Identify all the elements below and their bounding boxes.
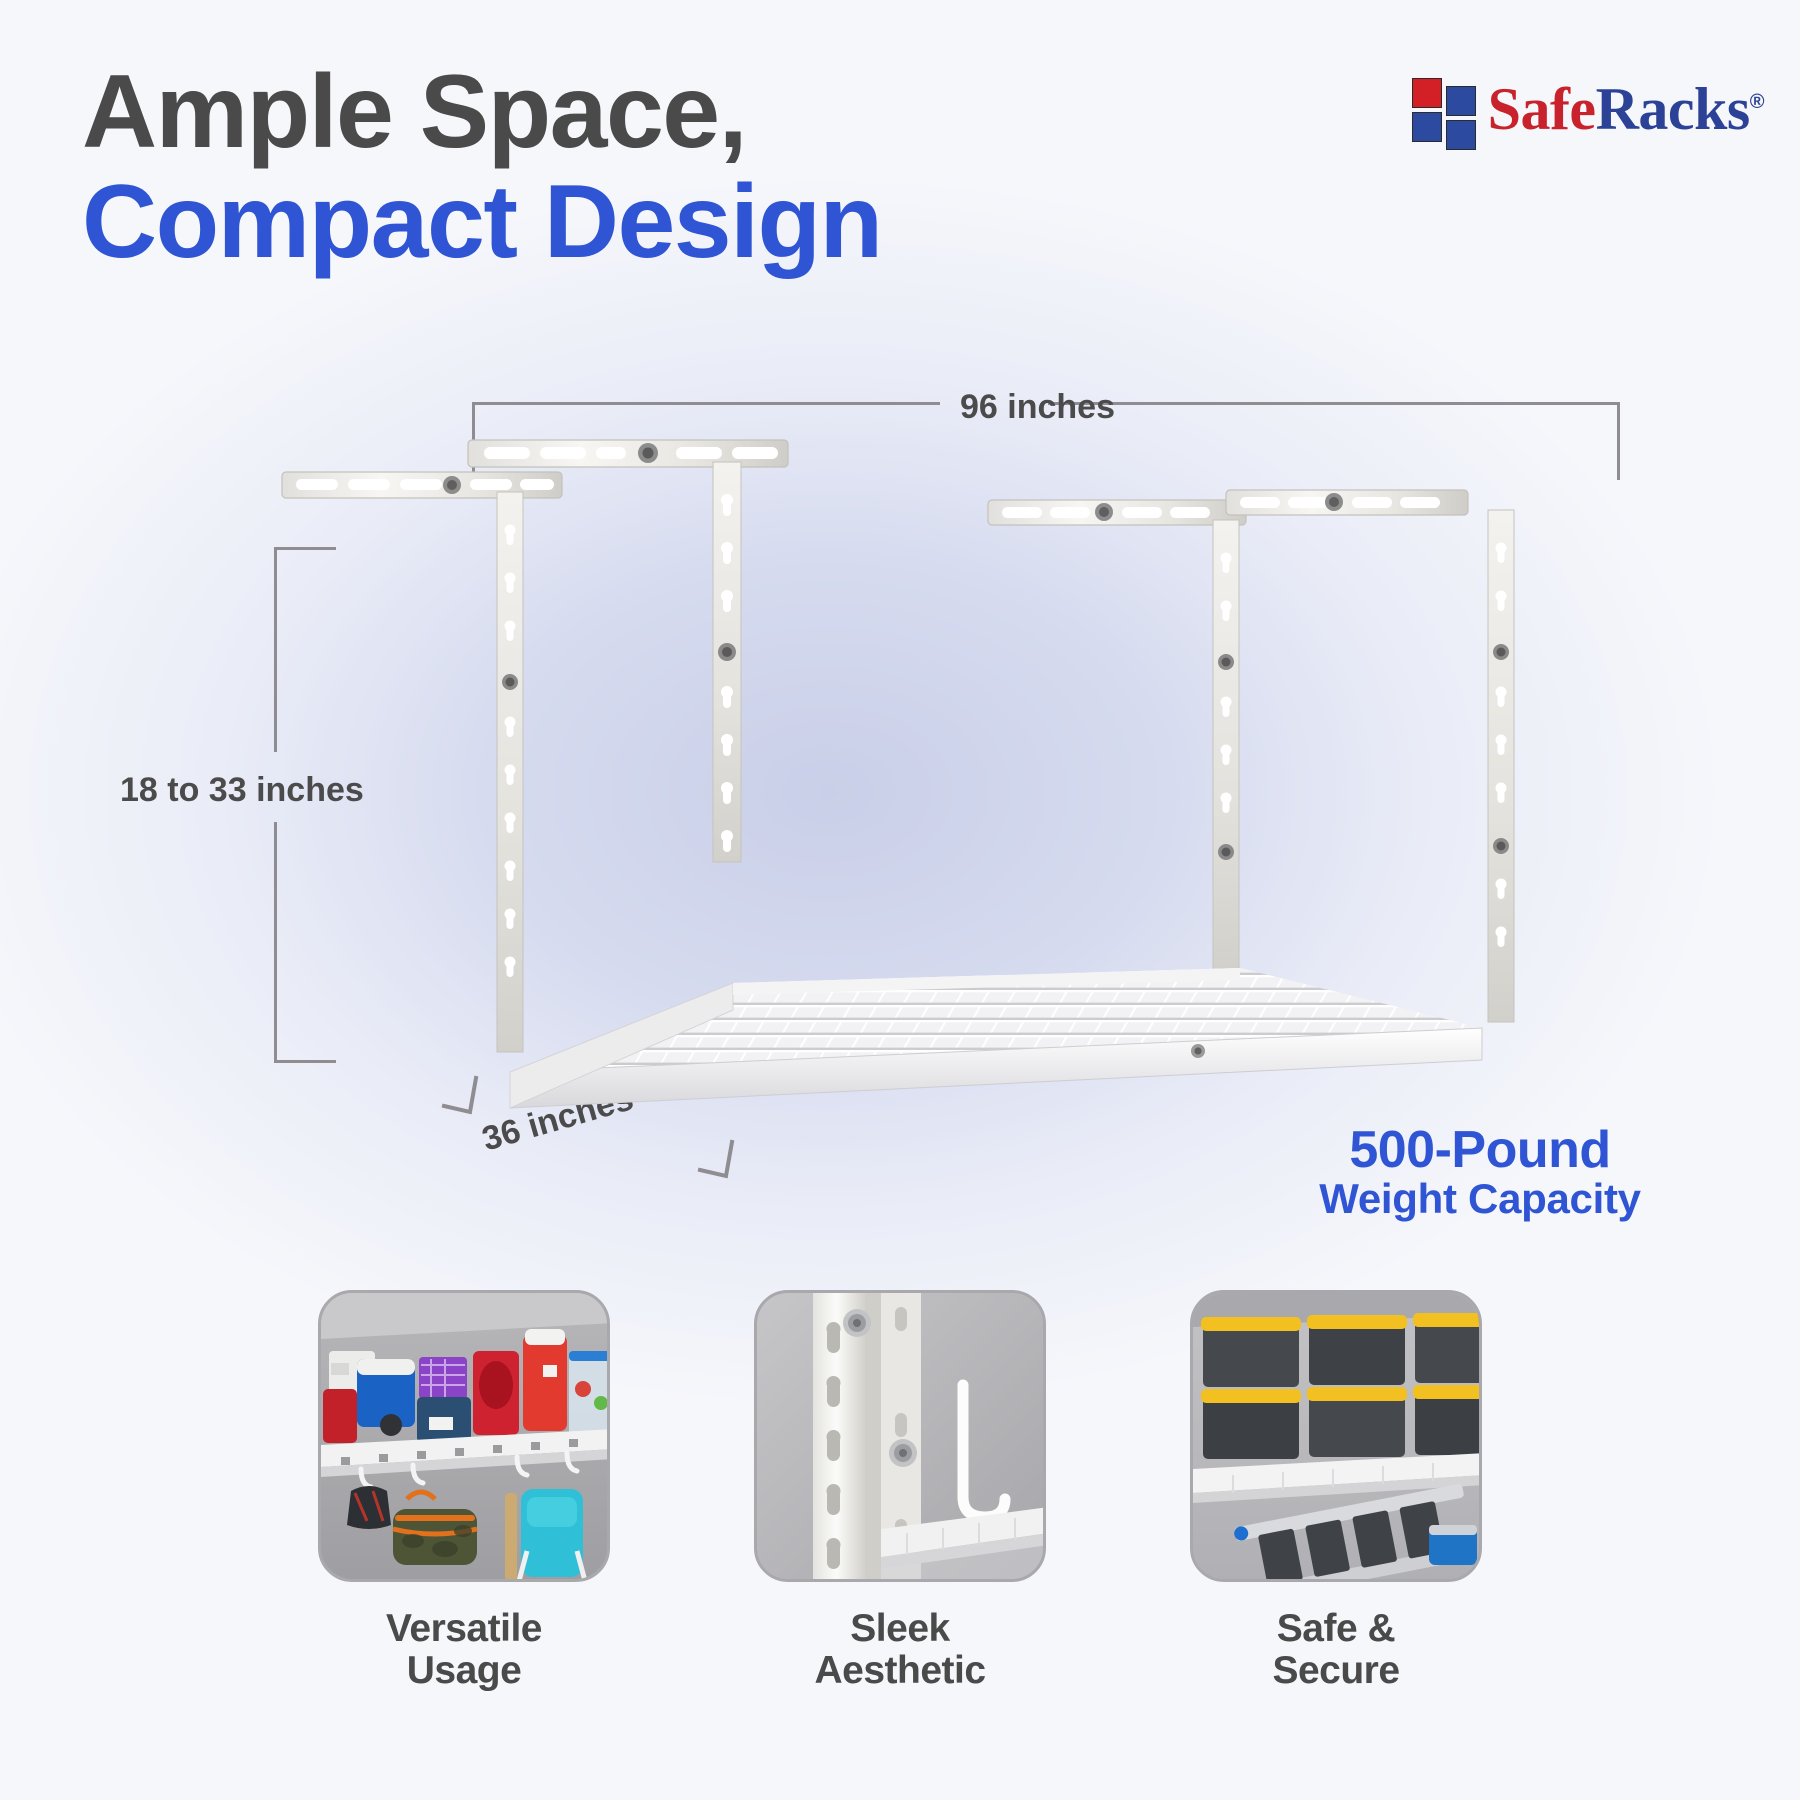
caption-line-2: Aesthetic [814, 1649, 985, 1692]
feature-card-versatile-usage[interactable]: Versatile Usage [318, 1290, 610, 1692]
caption-line-1: Safe & [1277, 1607, 1395, 1650]
ceiling-bracket-front-right [1226, 490, 1468, 515]
caption-line-1: Sleek [850, 1607, 949, 1650]
capacity-label: Weight Capacity [1290, 1177, 1670, 1221]
upright-post-back-right [1213, 520, 1239, 972]
feature-caption-sleek-aesthetic: Sleek Aesthetic [754, 1608, 1046, 1692]
upright-post-back-left [713, 462, 741, 862]
upright-post-front-left [497, 492, 523, 1052]
feature-cards: Versatile Usage [0, 1290, 1800, 1692]
caption-line-2: Usage [407, 1649, 522, 1692]
ceiling-bracket-back-right [988, 500, 1246, 525]
caption-line-2: Secure [1272, 1649, 1399, 1692]
upright-post-front-right [1488, 510, 1514, 1022]
shelf-deck [510, 968, 1482, 1108]
feature-card-sleek-aesthetic[interactable]: Sleek Aesthetic [754, 1290, 1046, 1692]
infographic-page: Ample Space, Compact Design SafeRacks® 9… [0, 0, 1800, 1800]
feature-caption-safe-secure: Safe & Secure [1190, 1608, 1482, 1692]
feature-thumbnail-sleek-aesthetic [754, 1290, 1046, 1582]
caption-line-1: Versatile [386, 1607, 542, 1650]
feature-card-safe-secure[interactable]: Safe & Secure [1190, 1290, 1482, 1692]
feature-caption-versatile-usage: Versatile Usage [318, 1608, 610, 1692]
product-illustration [0, 0, 1800, 1220]
feature-thumbnail-versatile-usage [318, 1290, 610, 1582]
feature-thumbnail-safe-secure [1190, 1290, 1482, 1582]
capacity-value: 500-Pound [1290, 1124, 1670, 1177]
weight-capacity-callout: 500-Pound Weight Capacity [1290, 1124, 1670, 1221]
